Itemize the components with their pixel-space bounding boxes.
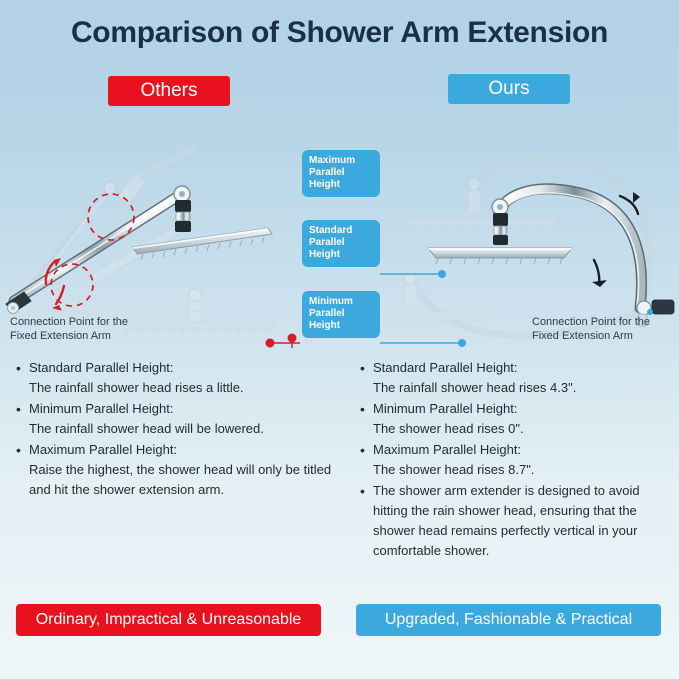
- connection-caption-right-line2: Fixed Extension Arm: [532, 329, 650, 343]
- list-item-heading: Maximum Parallel Height:: [373, 440, 665, 460]
- page-title: Comparison of Shower Arm Extension: [0, 16, 679, 50]
- list-item-heading: Minimum Parallel Height:: [29, 399, 336, 419]
- bullet-dot-icon: •: [360, 440, 373, 480]
- callout-line1: Standard: [309, 225, 352, 236]
- list-item-heading: Standard Parallel Height:: [29, 358, 336, 378]
- footer-banner-ours: Upgraded, Fashionable & Practical: [356, 604, 661, 636]
- callout-line2: Parallel Height: [309, 237, 345, 260]
- list-item-detail: Raise the highest, the shower head will …: [29, 460, 336, 500]
- bullet-dot-icon: •: [16, 358, 29, 398]
- list-item-heading: Maximum Parallel Height:: [29, 440, 336, 460]
- list-item: • Standard Parallel Height: The rainfall…: [360, 358, 665, 398]
- callout-line1: Minimum: [309, 296, 353, 307]
- list-item: • Maximum Parallel Height: The shower he…: [360, 440, 665, 480]
- bullet-dot-icon: •: [360, 481, 373, 561]
- connection-caption-left: Connection Point for the Fixed Extension…: [10, 315, 128, 343]
- infographic-root: Comparison of Shower Arm Extension Other…: [0, 0, 679, 679]
- connection-caption-right-line1: Connection Point for the: [532, 315, 650, 329]
- bullet-dot-icon: •: [16, 440, 29, 500]
- badge-ours: Ours: [448, 74, 570, 104]
- others-shower-head: [133, 186, 272, 260]
- connection-caption-left-line1: Connection Point for the: [10, 315, 128, 329]
- list-item: • Standard Parallel Height: The rainfall…: [16, 358, 336, 398]
- list-item-heading: Standard Parallel Height:: [373, 358, 665, 378]
- list-item-detail: The shower arm extender is designed to a…: [373, 481, 665, 561]
- list-item-detail: The rainfall shower head will be lowered…: [29, 419, 336, 439]
- list-item: • The shower arm extender is designed to…: [360, 481, 665, 561]
- callout-maximum-parallel-height: Maximum Parallel Height: [302, 150, 380, 197]
- connection-caption-left-line2: Fixed Extension Arm: [10, 329, 128, 343]
- list-item-detail: The shower head rises 8.7".: [373, 460, 665, 480]
- bullet-dot-icon: •: [16, 399, 29, 439]
- bullet-dot-icon: •: [360, 399, 373, 439]
- connection-caption-right: Connection Point for the Fixed Extension…: [532, 315, 650, 343]
- callout-line1: Maximum: [309, 155, 355, 166]
- list-item: • Maximum Parallel Height: Raise the hig…: [16, 440, 336, 500]
- list-item-heading: Minimum Parallel Height:: [373, 399, 665, 419]
- list-item: • Minimum Parallel Height: The rainfall …: [16, 399, 336, 439]
- list-item-detail: The shower head rises 0".: [373, 419, 665, 439]
- list-item-detail: The rainfall shower head rises 4.3".: [373, 378, 665, 398]
- callout-minimum-parallel-height: Minimum Parallel Height: [302, 291, 380, 338]
- bullet-dot-icon: •: [360, 358, 373, 398]
- callout-line2: Parallel Height: [309, 308, 345, 331]
- footer-banner-others: Ordinary, Impractical & Unreasonable: [16, 604, 321, 636]
- badge-others: Others: [108, 76, 230, 106]
- callout-line2: Parallel Height: [309, 167, 345, 190]
- callout-standard-parallel-height: Standard Parallel Height: [302, 220, 380, 267]
- ours-ghost-max: [404, 159, 649, 306]
- ours-feature-list: • Standard Parallel Height: The rainfall…: [360, 358, 665, 562]
- others-feature-list: • Standard Parallel Height: The rainfall…: [16, 358, 336, 501]
- list-item: • Minimum Parallel Height: The shower he…: [360, 399, 665, 439]
- ours-diagram: [338, 159, 674, 335]
- others-diagram: [6, 148, 275, 335]
- ours-shower-head: [428, 199, 572, 264]
- list-item-detail: The rainfall shower head rises a little.: [29, 378, 336, 398]
